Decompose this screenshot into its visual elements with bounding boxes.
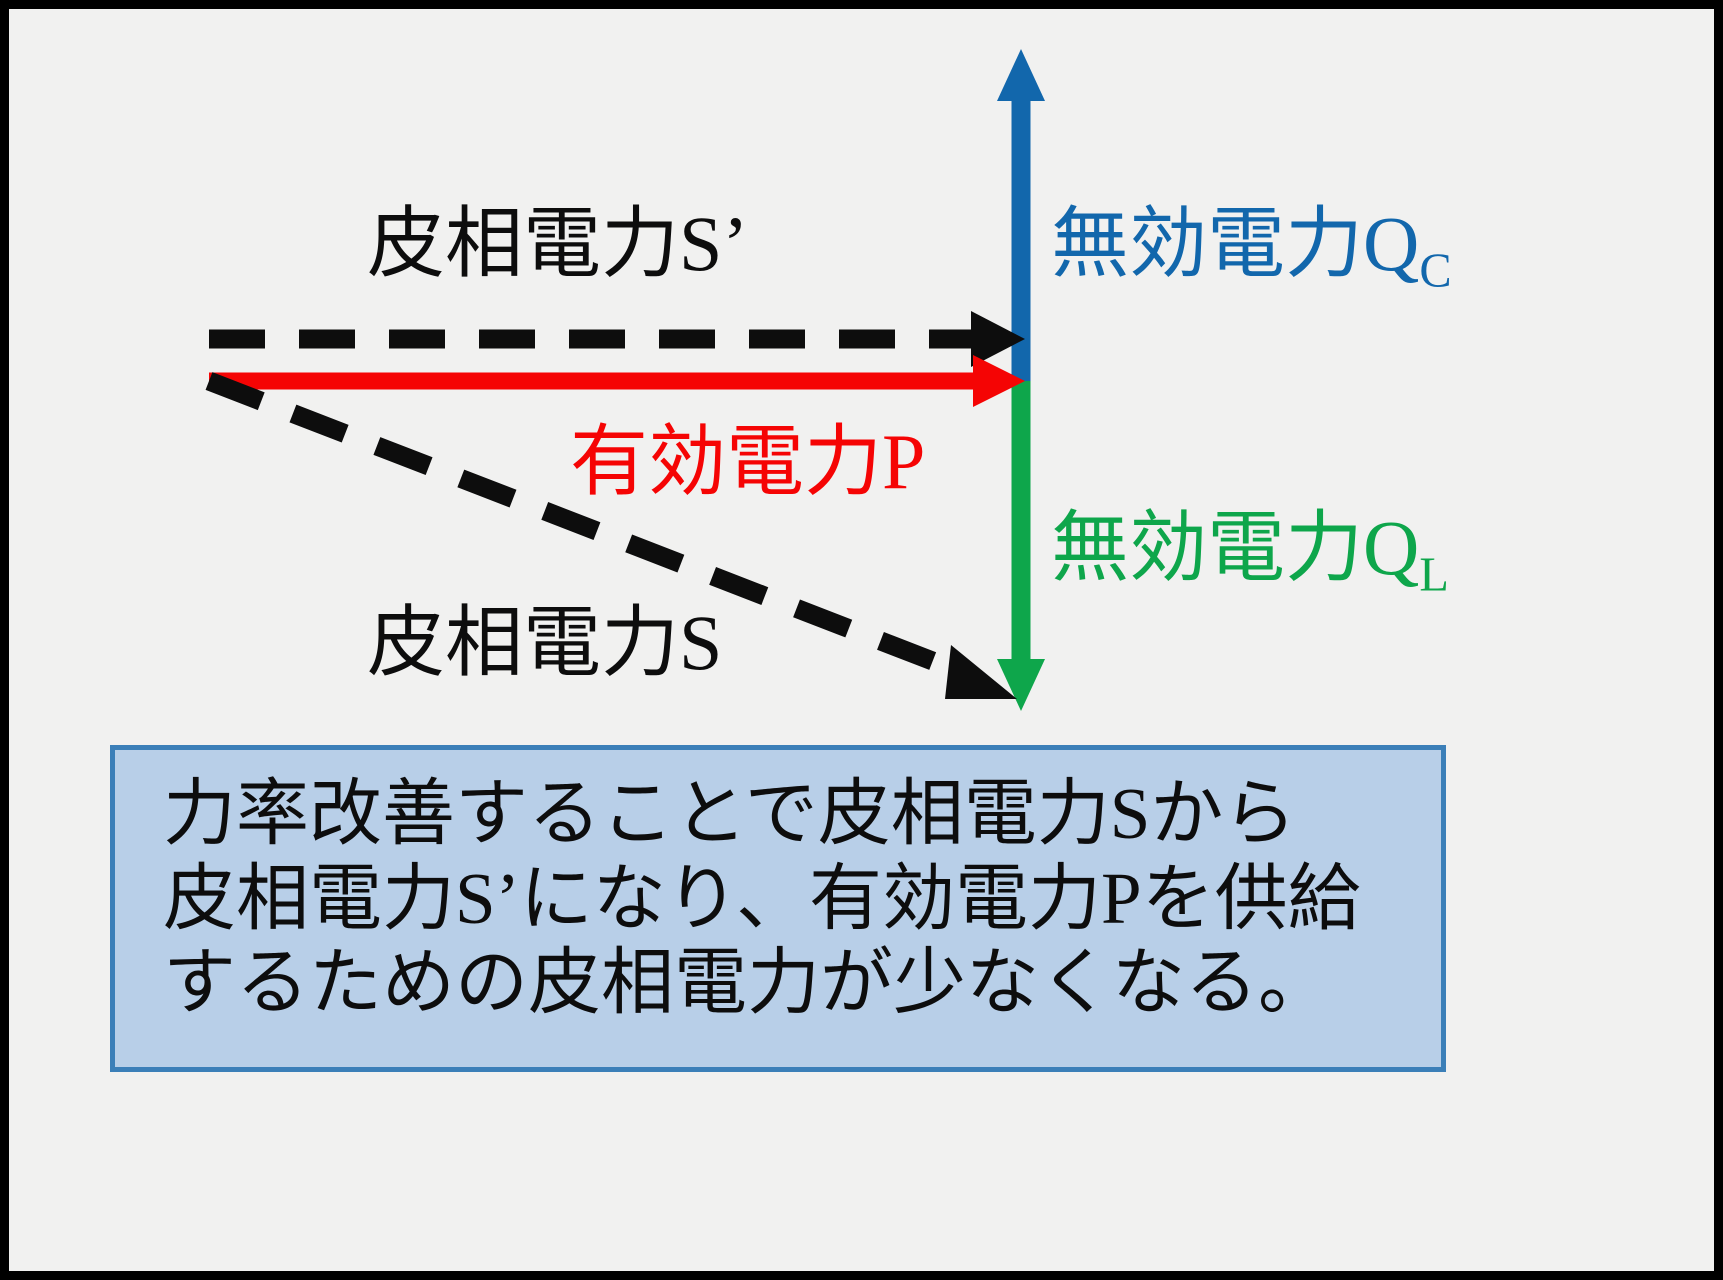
- label-active-power: 有効電力P: [570, 423, 925, 501]
- reactive-power-inductive-vector: [997, 381, 1045, 711]
- label-apparent-power-corrected: 皮相電力S’: [367, 205, 748, 283]
- apparent-power-corrected-vector: [209, 311, 1025, 367]
- explanation-box: 力率改善することで皮相電力Sから 皮相電力S’になり、有効電力Pを供給 するため…: [110, 745, 1446, 1072]
- diagram-canvas: 皮相電力S’ 無効電力QC 有効電力P 無効電力QL 皮相電力S 力率改善するこ…: [0, 0, 1723, 1280]
- explanation-line-3: するための皮相電力が少なくなる。: [163, 941, 1361, 1026]
- label-apparent-power-corrected-text: 皮相電力S’: [367, 200, 748, 287]
- label-reactive-power-capacitive-text: 無効電力Q: [1051, 200, 1419, 287]
- label-reactive-power-inductive-subscript: L: [1419, 549, 1449, 602]
- label-reactive-power-inductive: 無効電力QL: [1051, 509, 1449, 587]
- label-reactive-power-capacitive-subscript: C: [1419, 245, 1451, 298]
- reactive-power-capacitive-vector: [997, 49, 1045, 381]
- explanation-text: 力率改善することで皮相電力Sから 皮相電力S’になり、有効電力Pを供給 するため…: [163, 772, 1361, 1026]
- label-reactive-power-capacitive: 無効電力QC: [1051, 205, 1452, 283]
- label-apparent-power-original: 皮相電力S: [367, 604, 722, 682]
- label-reactive-power-inductive-text: 無効電力Q: [1051, 504, 1419, 591]
- label-active-power-text: 有効電力P: [570, 418, 925, 505]
- label-apparent-power-original-text: 皮相電力S: [367, 599, 722, 686]
- explanation-line-1: 力率改善することで皮相電力Sから: [163, 772, 1361, 857]
- vector-diagram: [9, 9, 1723, 1280]
- active-power-vector: [209, 355, 1025, 407]
- explanation-line-2: 皮相電力S’になり、有効電力Pを供給: [163, 857, 1361, 942]
